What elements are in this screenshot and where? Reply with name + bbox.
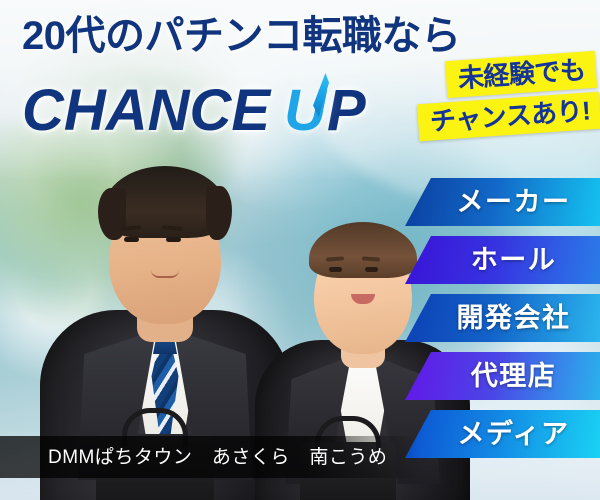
category-item-maker[interactable]: メーカー [405,178,600,226]
brand-logo: CHANCE U P [22,74,366,148]
brand-logo-chance: CHANCE [22,82,270,140]
page-title: 20代のパチンコ転職なら [22,16,461,56]
promo-badge-line-2: チャンスあり! [417,92,600,142]
promo-badge: 未経験でも チャンスあり! [418,56,596,135]
promo-badge-line-1: 未経験でも [445,51,597,98]
category-label: メディア [457,421,569,448]
caption-bar: DMMぱちタウン あさくら 南こうめ [0,436,420,478]
caption-text: DMMぱちタウン あさくら 南こうめ [0,448,387,467]
brand-logo-p: P [327,82,366,140]
category-item-developer[interactable]: 開発会社 [405,294,600,342]
category-list: メーカー ホール 開発会社 代理店 メディア [405,178,600,458]
category-item-agency[interactable]: 代理店 [405,352,600,400]
category-label: ホール [471,247,557,274]
advertisement-banner[interactable]: 20代のパチンコ転職なら CHANCE U P 未経験でも チャンスあり! メー… [0,0,600,500]
category-label: メーカー [457,189,571,216]
category-label: 代理店 [471,363,557,390]
brand-logo-u-wrap: U [284,82,326,140]
category-item-media[interactable]: メディア [405,410,600,458]
category-item-hall[interactable]: ホール [405,236,600,284]
category-label: 開発会社 [457,305,571,332]
